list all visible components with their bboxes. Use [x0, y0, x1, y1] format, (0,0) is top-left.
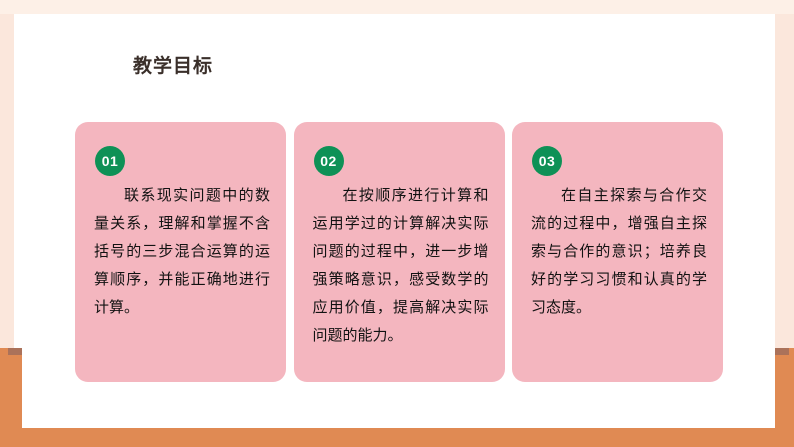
accent-notch-right — [775, 348, 789, 355]
decorative-band-top — [0, 0, 794, 14]
card-number-badge: 02 — [314, 146, 344, 176]
card-body-text: 在自主探索与合作交流的过程中，增强自主探索与合作的意识；培养良好的学习习惯和认真… — [531, 182, 707, 322]
page-title: 教学目标 — [133, 55, 213, 79]
accent-notch-left — [8, 348, 22, 355]
card-number-badge: 01 — [95, 146, 125, 176]
card-number-badge: 03 — [532, 146, 562, 176]
card-body-text: 在按顺序进行计算和运用学过的计算解决实际问题的过程中，进一步增强策略意识，感受数… — [313, 182, 489, 350]
objective-card: 02 在按顺序进行计算和运用学过的计算解决实际问题的过程中，进一步增强策略意识，… — [294, 122, 505, 382]
objective-card: 03 在自主探索与合作交流的过程中，增强自主探索与合作的意识；培养良好的学习习惯… — [512, 122, 723, 382]
accent-bar-bottom — [0, 428, 794, 447]
slide-canvas: 教学目标 01 联系现实问题中的数量关系，理解和掌握不含括号的三步混合运算的运算… — [0, 0, 794, 447]
objective-card: 01 联系现实问题中的数量关系，理解和掌握不含括号的三步混合运算的运算顺序，并能… — [75, 122, 286, 382]
card-body-text: 联系现实问题中的数量关系，理解和掌握不含括号的三步混合运算的运算顺序，并能正确地… — [94, 182, 270, 322]
objective-card-list: 01 联系现实问题中的数量关系，理解和掌握不含括号的三步混合运算的运算顺序，并能… — [75, 122, 723, 382]
